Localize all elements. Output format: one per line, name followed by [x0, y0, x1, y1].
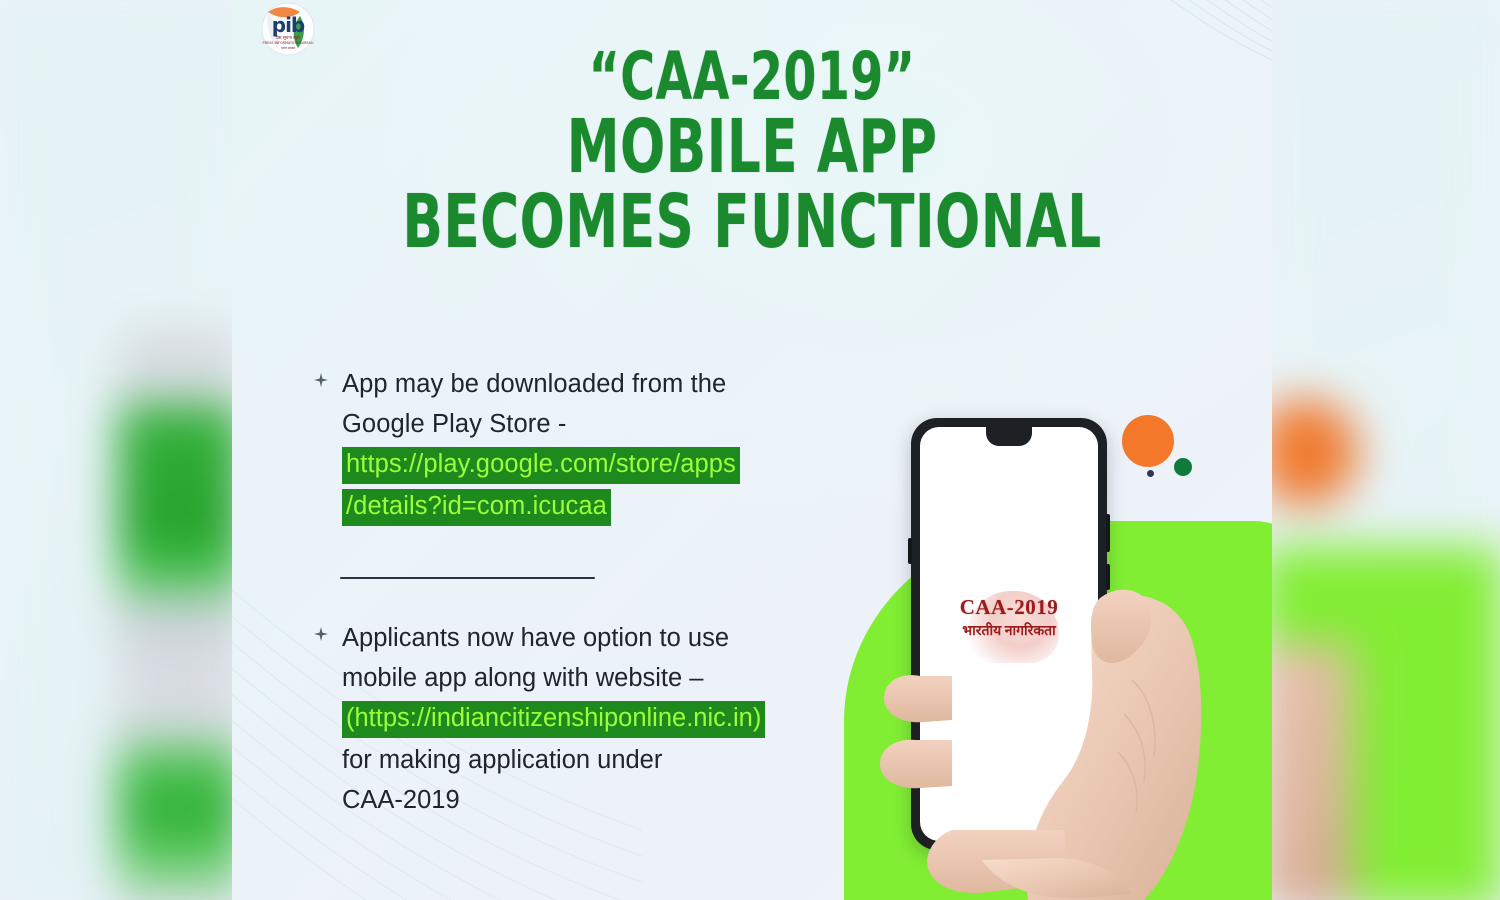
blurred-left-backdrop: [0, 0, 242, 900]
green-circle-decoration: [1174, 458, 1192, 476]
poster-screenshot: pib प्रेस सूचना ब्यूरो PRESS INFORMATION…: [0, 0, 1500, 900]
lotus-hand-graphic: [967, 591, 1059, 663]
bullet-2-line-5: CAA-2019: [342, 780, 882, 820]
phone-volume-button: [1106, 514, 1110, 552]
page-title: “CAA-2019” MOBILE APP BECOMES FUNCTIONAL: [232, 46, 1272, 257]
bullet-item-website: Applicants now have option to use mobile…: [310, 618, 882, 820]
four-point-star-icon: [314, 627, 328, 641]
green-blob-shape: [844, 521, 1272, 900]
poster-content: pib प्रेस सूचना ब्यूरो PRESS INFORMATION…: [232, 0, 1272, 900]
bullet-2-line-1: Applicants now have option to use: [342, 618, 882, 658]
four-point-star-icon: [314, 373, 328, 387]
section-divider: [340, 577, 595, 579]
hand-holding-phone: [832, 500, 1272, 900]
backdrop-phone-blur-top: [118, 328, 242, 665]
smartphone-mockup: CAA-2019 भारतीय नागरिकता: [911, 418, 1107, 850]
app-splash-logo: CAA-2019 भारतीय नागरिकता: [945, 595, 1073, 640]
backdrop-phone-blur-bottom: [118, 644, 242, 900]
phone-side-button-left: [908, 538, 912, 564]
svg-text:PRESS INFORMATION BUREAU: PRESS INFORMATION BUREAU: [263, 41, 314, 45]
headline-line-3: BECOMES FUNCTIONAL: [336, 188, 1168, 257]
svg-text:pib: pib: [272, 13, 305, 37]
app-subtitle-hindi: भारतीय नागरिकता: [945, 621, 1073, 640]
play-store-url-part-1[interactable]: https://play.google.com/store/apps: [342, 447, 740, 484]
orange-circle-decoration: [1122, 415, 1174, 467]
blurred-right-backdrop: [1262, 0, 1500, 900]
headline-line-2: MOBILE APP: [336, 113, 1168, 182]
backdrop-hand-blur: [1262, 644, 1354, 900]
play-store-url-part-2[interactable]: /details?id=com.icucaa: [342, 489, 611, 526]
navy-dot-decoration: [1147, 470, 1154, 477]
phone-notch: [986, 427, 1032, 446]
citizenship-portal-url[interactable]: (https://indiancitizenshiponline.nic.in): [342, 701, 765, 738]
bullet-1-line-1: App may be downloaded from the: [342, 364, 872, 404]
phone-screen: CAA-2019 भारतीय नागरिकता: [920, 427, 1098, 841]
phone-power-button: [1106, 564, 1110, 590]
bullet-item-download: App may be downloaded from the Google Pl…: [310, 364, 872, 528]
bullet-2-line-2: mobile app along with website –: [342, 658, 882, 698]
bullet-2-line-4: for making application under: [342, 740, 882, 780]
headline-line-1: “CAA-2019”: [336, 46, 1168, 107]
bullet-1-line-2: Google Play Store -: [342, 404, 872, 444]
app-title: CAA-2019: [945, 595, 1073, 620]
